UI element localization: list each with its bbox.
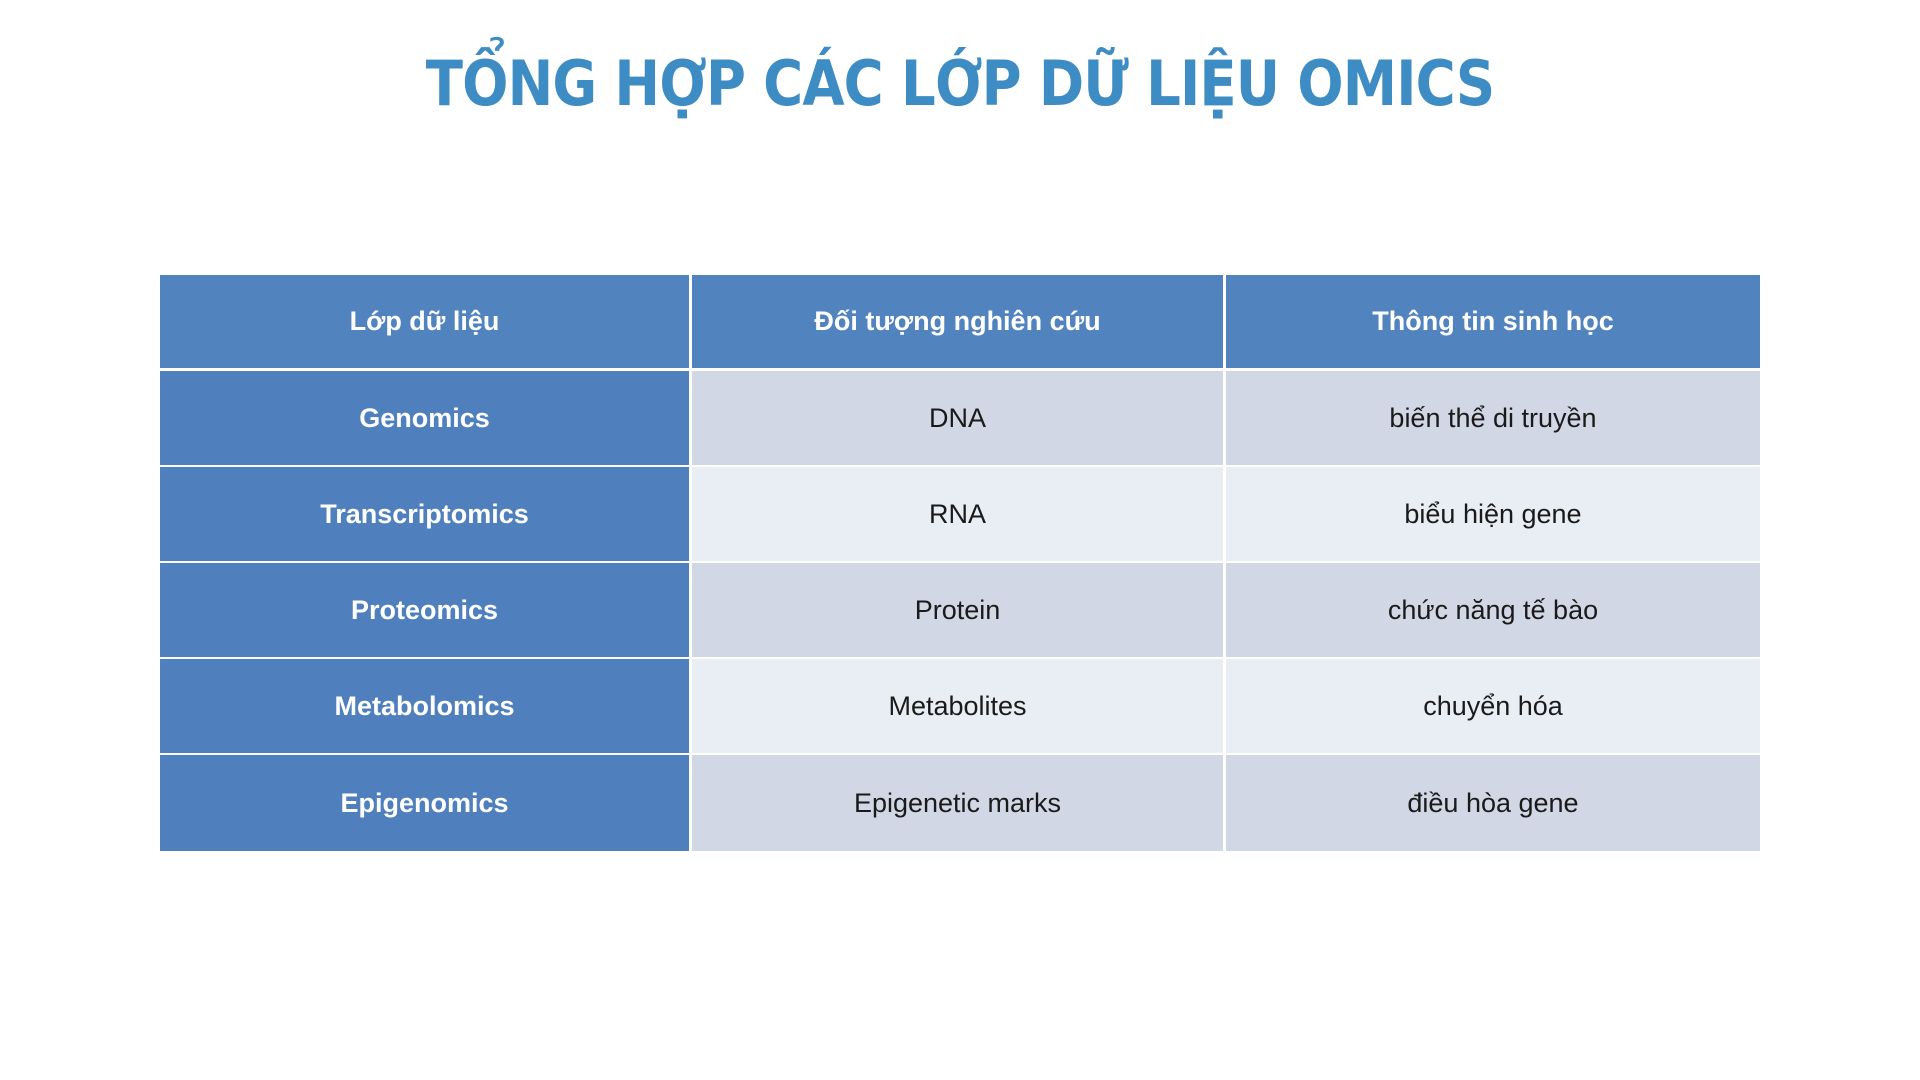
table-row: Proteomics Protein chức năng tế bào <box>160 563 1760 659</box>
cell-subject-transcriptomics: RNA <box>692 467 1226 563</box>
table-row: Transcriptomics RNA biểu hiện gene <box>160 467 1760 563</box>
cell-layer-genomics: Genomics <box>160 371 692 467</box>
column-header-layer: Lớp dữ liệu <box>160 275 692 371</box>
cell-layer-proteomics: Proteomics <box>160 563 692 659</box>
omics-layers-table: Lớp dữ liệu Đối tượng nghiên cứu Thông t… <box>160 275 1760 851</box>
cell-info-metabolomics: chuyển hóa <box>1226 659 1760 755</box>
cell-subject-genomics: DNA <box>692 371 1226 467</box>
cell-info-epigenomics: điều hòa gene <box>1226 755 1760 851</box>
cell-info-genomics: biến thể di truyền <box>1226 371 1760 467</box>
slide-canvas: TỔNG HỢP CÁC LỚP DỮ LIỆU OMICS Lớp dữ li… <box>0 0 1920 1080</box>
cell-subject-epigenomics: Epigenetic marks <box>692 755 1226 851</box>
cell-info-proteomics: chức năng tế bào <box>1226 563 1760 659</box>
omics-table-container: Lớp dữ liệu Đối tượng nghiên cứu Thông t… <box>160 275 1760 851</box>
cell-layer-epigenomics: Epigenomics <box>160 755 692 851</box>
table-row: Metabolomics Metabolites chuyển hóa <box>160 659 1760 755</box>
cell-subject-proteomics: Protein <box>692 563 1226 659</box>
page-title: TỔNG HỢP CÁC LỚP DỮ LIỆU OMICS <box>115 48 1805 119</box>
table-row: Genomics DNA biến thể di truyền <box>160 371 1760 467</box>
table-header-row: Lớp dữ liệu Đối tượng nghiên cứu Thông t… <box>160 275 1760 371</box>
column-header-subject: Đối tượng nghiên cứu <box>692 275 1226 371</box>
cell-subject-metabolomics: Metabolites <box>692 659 1226 755</box>
table-row: Epigenomics Epigenetic marks điều hòa ge… <box>160 755 1760 851</box>
cell-layer-metabolomics: Metabolomics <box>160 659 692 755</box>
column-header-info: Thông tin sinh học <box>1226 275 1760 371</box>
cell-layer-transcriptomics: Transcriptomics <box>160 467 692 563</box>
table-header: Lớp dữ liệu Đối tượng nghiên cứu Thông t… <box>160 275 1760 371</box>
table-body: Genomics DNA biến thể di truyền Transcri… <box>160 371 1760 851</box>
cell-info-transcriptomics: biểu hiện gene <box>1226 467 1760 563</box>
